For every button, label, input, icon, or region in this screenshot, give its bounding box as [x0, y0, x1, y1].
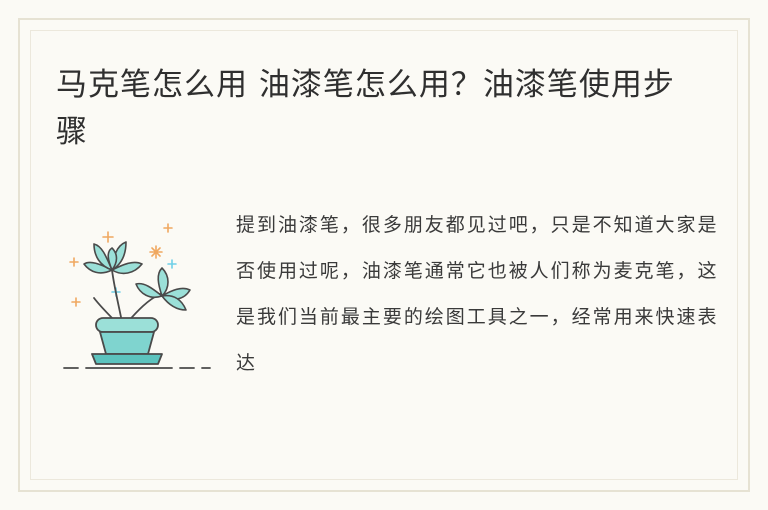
- article-body: 提到油漆笔，很多朋友都见过吧，只是不知道大家是否使用过呢，油漆笔通常它也被人们称…: [236, 202, 718, 386]
- potted-succulent-plant-icon: [56, 202, 226, 382]
- content-row: 提到油漆笔，很多朋友都见过吧，只是不知道大家是否使用过呢，油漆笔通常它也被人们称…: [56, 202, 718, 386]
- article-card: 马克笔怎么用 油漆笔怎么用？油漆笔使用步骤: [18, 18, 750, 492]
- page-title: 马克笔怎么用 油漆笔怎么用？油漆笔使用步骤: [56, 62, 696, 156]
